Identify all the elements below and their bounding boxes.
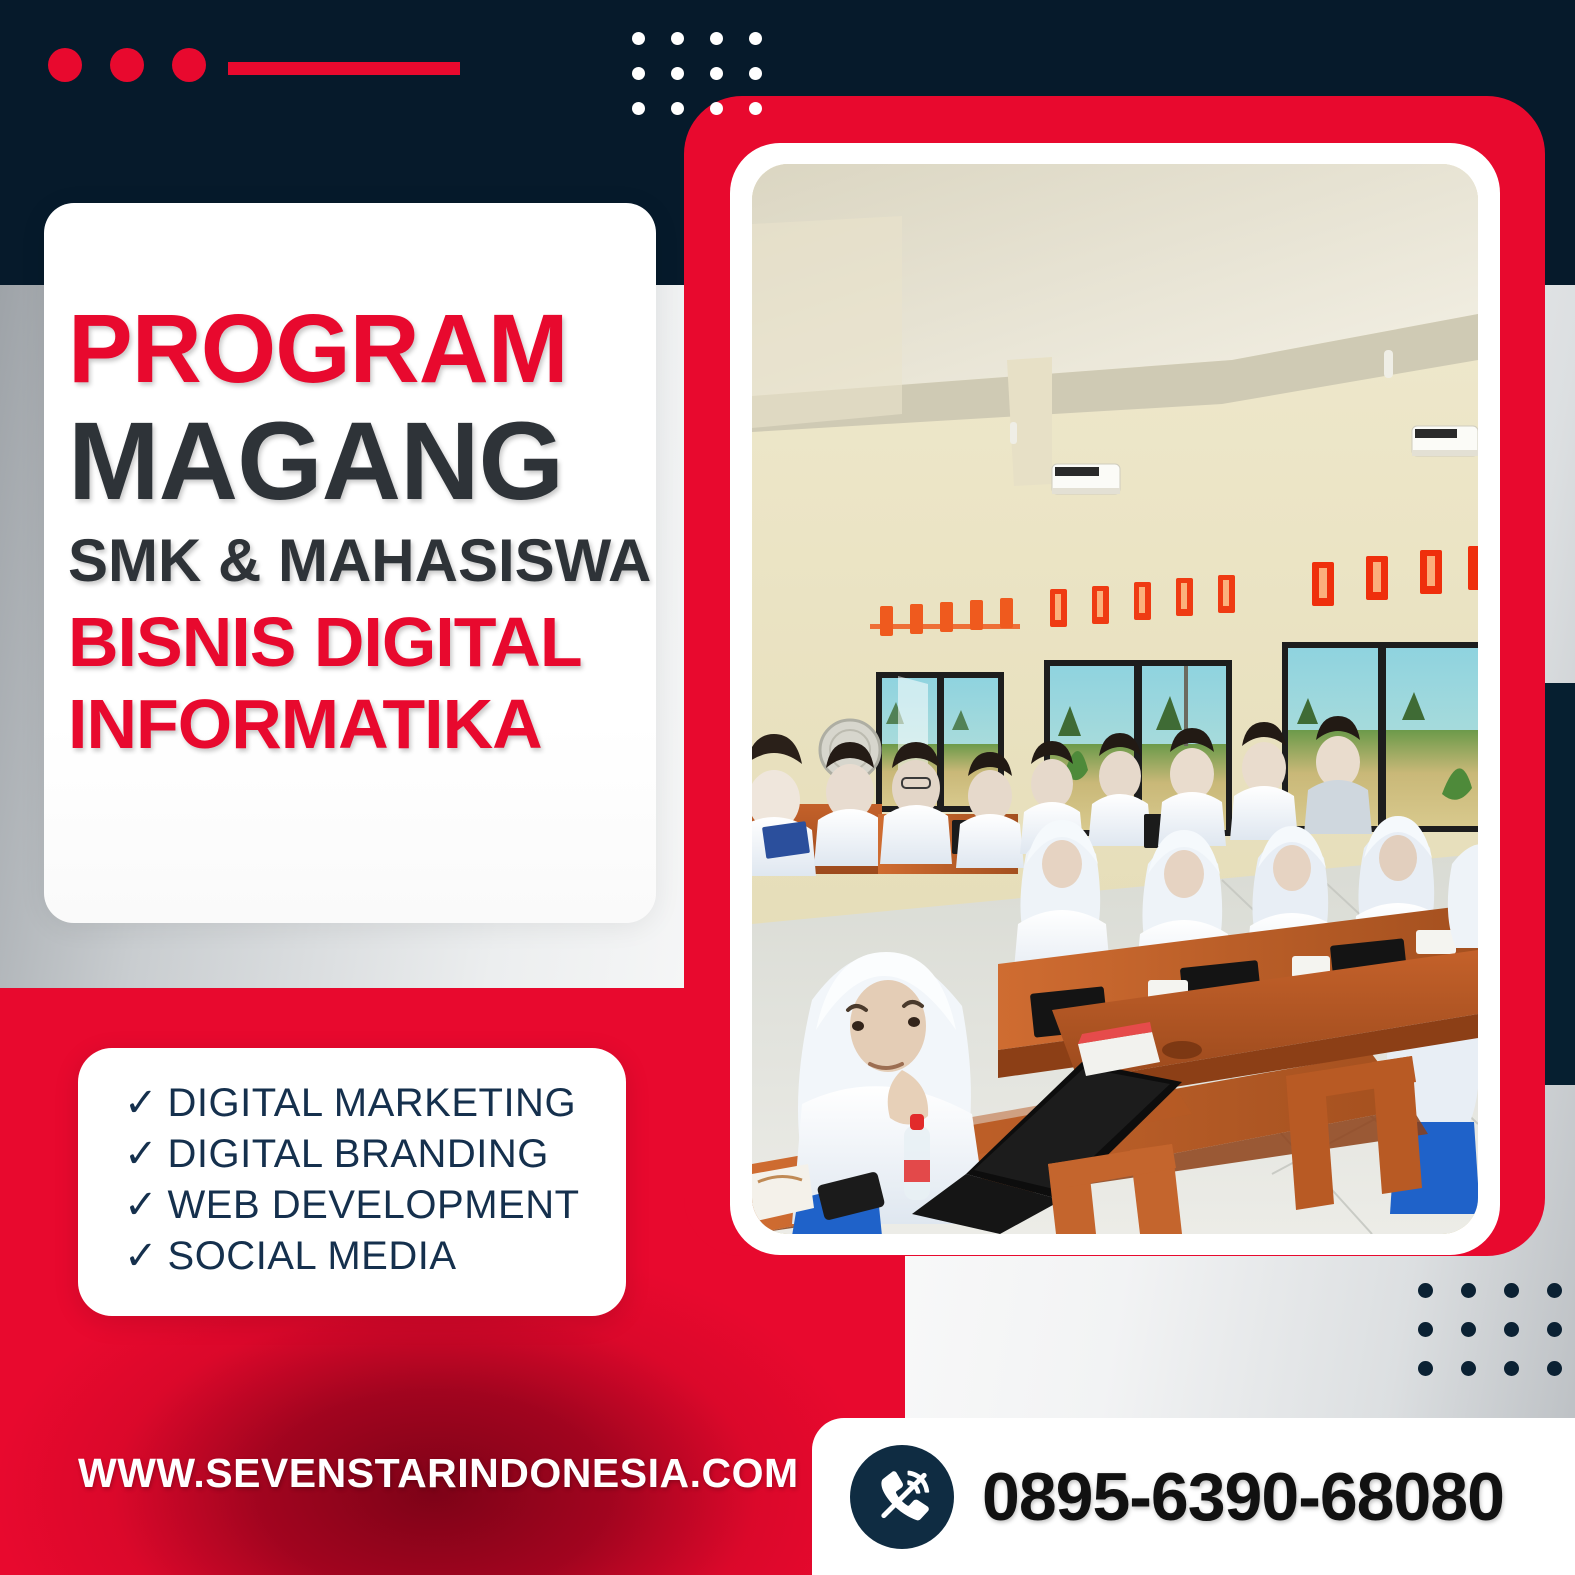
list-item: ✓ WEB DEVELOPMENT [124,1184,626,1226]
list-item: ✓ DIGITAL BRANDING [124,1133,626,1175]
service-label: DIGITAL BRANDING [168,1133,549,1175]
grid-dot-icon [632,102,645,115]
grid-dot-icon [1461,1283,1476,1298]
grid-dot-icon [1461,1322,1476,1337]
red-dot-icon [172,48,206,82]
service-label: WEB DEVELOPMENT [168,1184,580,1226]
check-icon: ✓ [124,1083,158,1123]
grid-dot-icon [1504,1322,1519,1337]
website-url[interactable]: WWW.SEVENSTARINDONESIA.COM [78,1450,799,1497]
check-icon: ✓ [124,1134,158,1174]
poster-canvas: PROGRAM MAGANG SMK & MAHASISWA BISNIS DI… [0,0,1575,1575]
headline-line-program: PROGRAM [68,300,708,397]
services-card: ✓ DIGITAL MARKETING ✓ DIGITAL BRANDING ✓… [78,1048,626,1316]
grid-dot-icon [632,32,645,45]
headline-line-magang: MAGANG [68,407,708,517]
red-dot-icon [48,48,82,82]
grid-dot-icon [1504,1283,1519,1298]
grid-dot-icon [710,102,723,115]
headline-line-smk-mahasiswa: SMK & MAHASISWA [68,531,708,591]
classroom-photo [752,164,1478,1234]
phone-number[interactable]: 0895-6390-68080 [982,1458,1504,1536]
red-underline-bar [228,62,460,75]
check-icon: ✓ [124,1236,158,1276]
grid-dot-icon [1504,1361,1519,1376]
grid-dot-icon [671,32,684,45]
grid-dot-icon [749,67,762,80]
check-icon: ✓ [124,1185,158,1225]
grid-dot-icon [1547,1361,1562,1376]
phone-ringing-icon [850,1445,954,1549]
headline-text-block: PROGRAM MAGANG SMK & MAHASISWA BISNIS DI… [68,300,708,759]
grid-dot-icon [1461,1361,1476,1376]
grid-dot-icon [671,67,684,80]
grid-dot-icon [1418,1361,1433,1376]
dot-grid-top-right [632,32,762,115]
grid-dot-icon [710,32,723,45]
grid-dot-icon [1547,1322,1562,1337]
grid-dot-icon [749,32,762,45]
red-dot-icon [110,48,144,82]
service-label: SOCIAL MEDIA [168,1235,457,1277]
phone-contact-card[interactable]: 0895-6390-68080 [812,1418,1575,1575]
grid-dot-icon [671,102,684,115]
list-item: ✓ SOCIAL MEDIA [124,1235,626,1277]
grid-dot-icon [632,67,645,80]
list-item: ✓ DIGITAL MARKETING [124,1082,626,1124]
service-label: DIGITAL MARKETING [168,1082,577,1124]
grid-dot-icon [710,67,723,80]
three-red-dots-decor [48,48,206,82]
grid-dot-icon [1418,1322,1433,1337]
grid-dot-icon [1418,1283,1433,1298]
headline-line-bisnis-digital: BISNIS DIGITAL [68,607,708,677]
dot-grid-bottom-right [1418,1283,1562,1376]
grid-dot-icon [1547,1283,1562,1298]
grid-dot-icon [749,102,762,115]
headline-line-informatika: INFORMATIKA [68,689,708,759]
